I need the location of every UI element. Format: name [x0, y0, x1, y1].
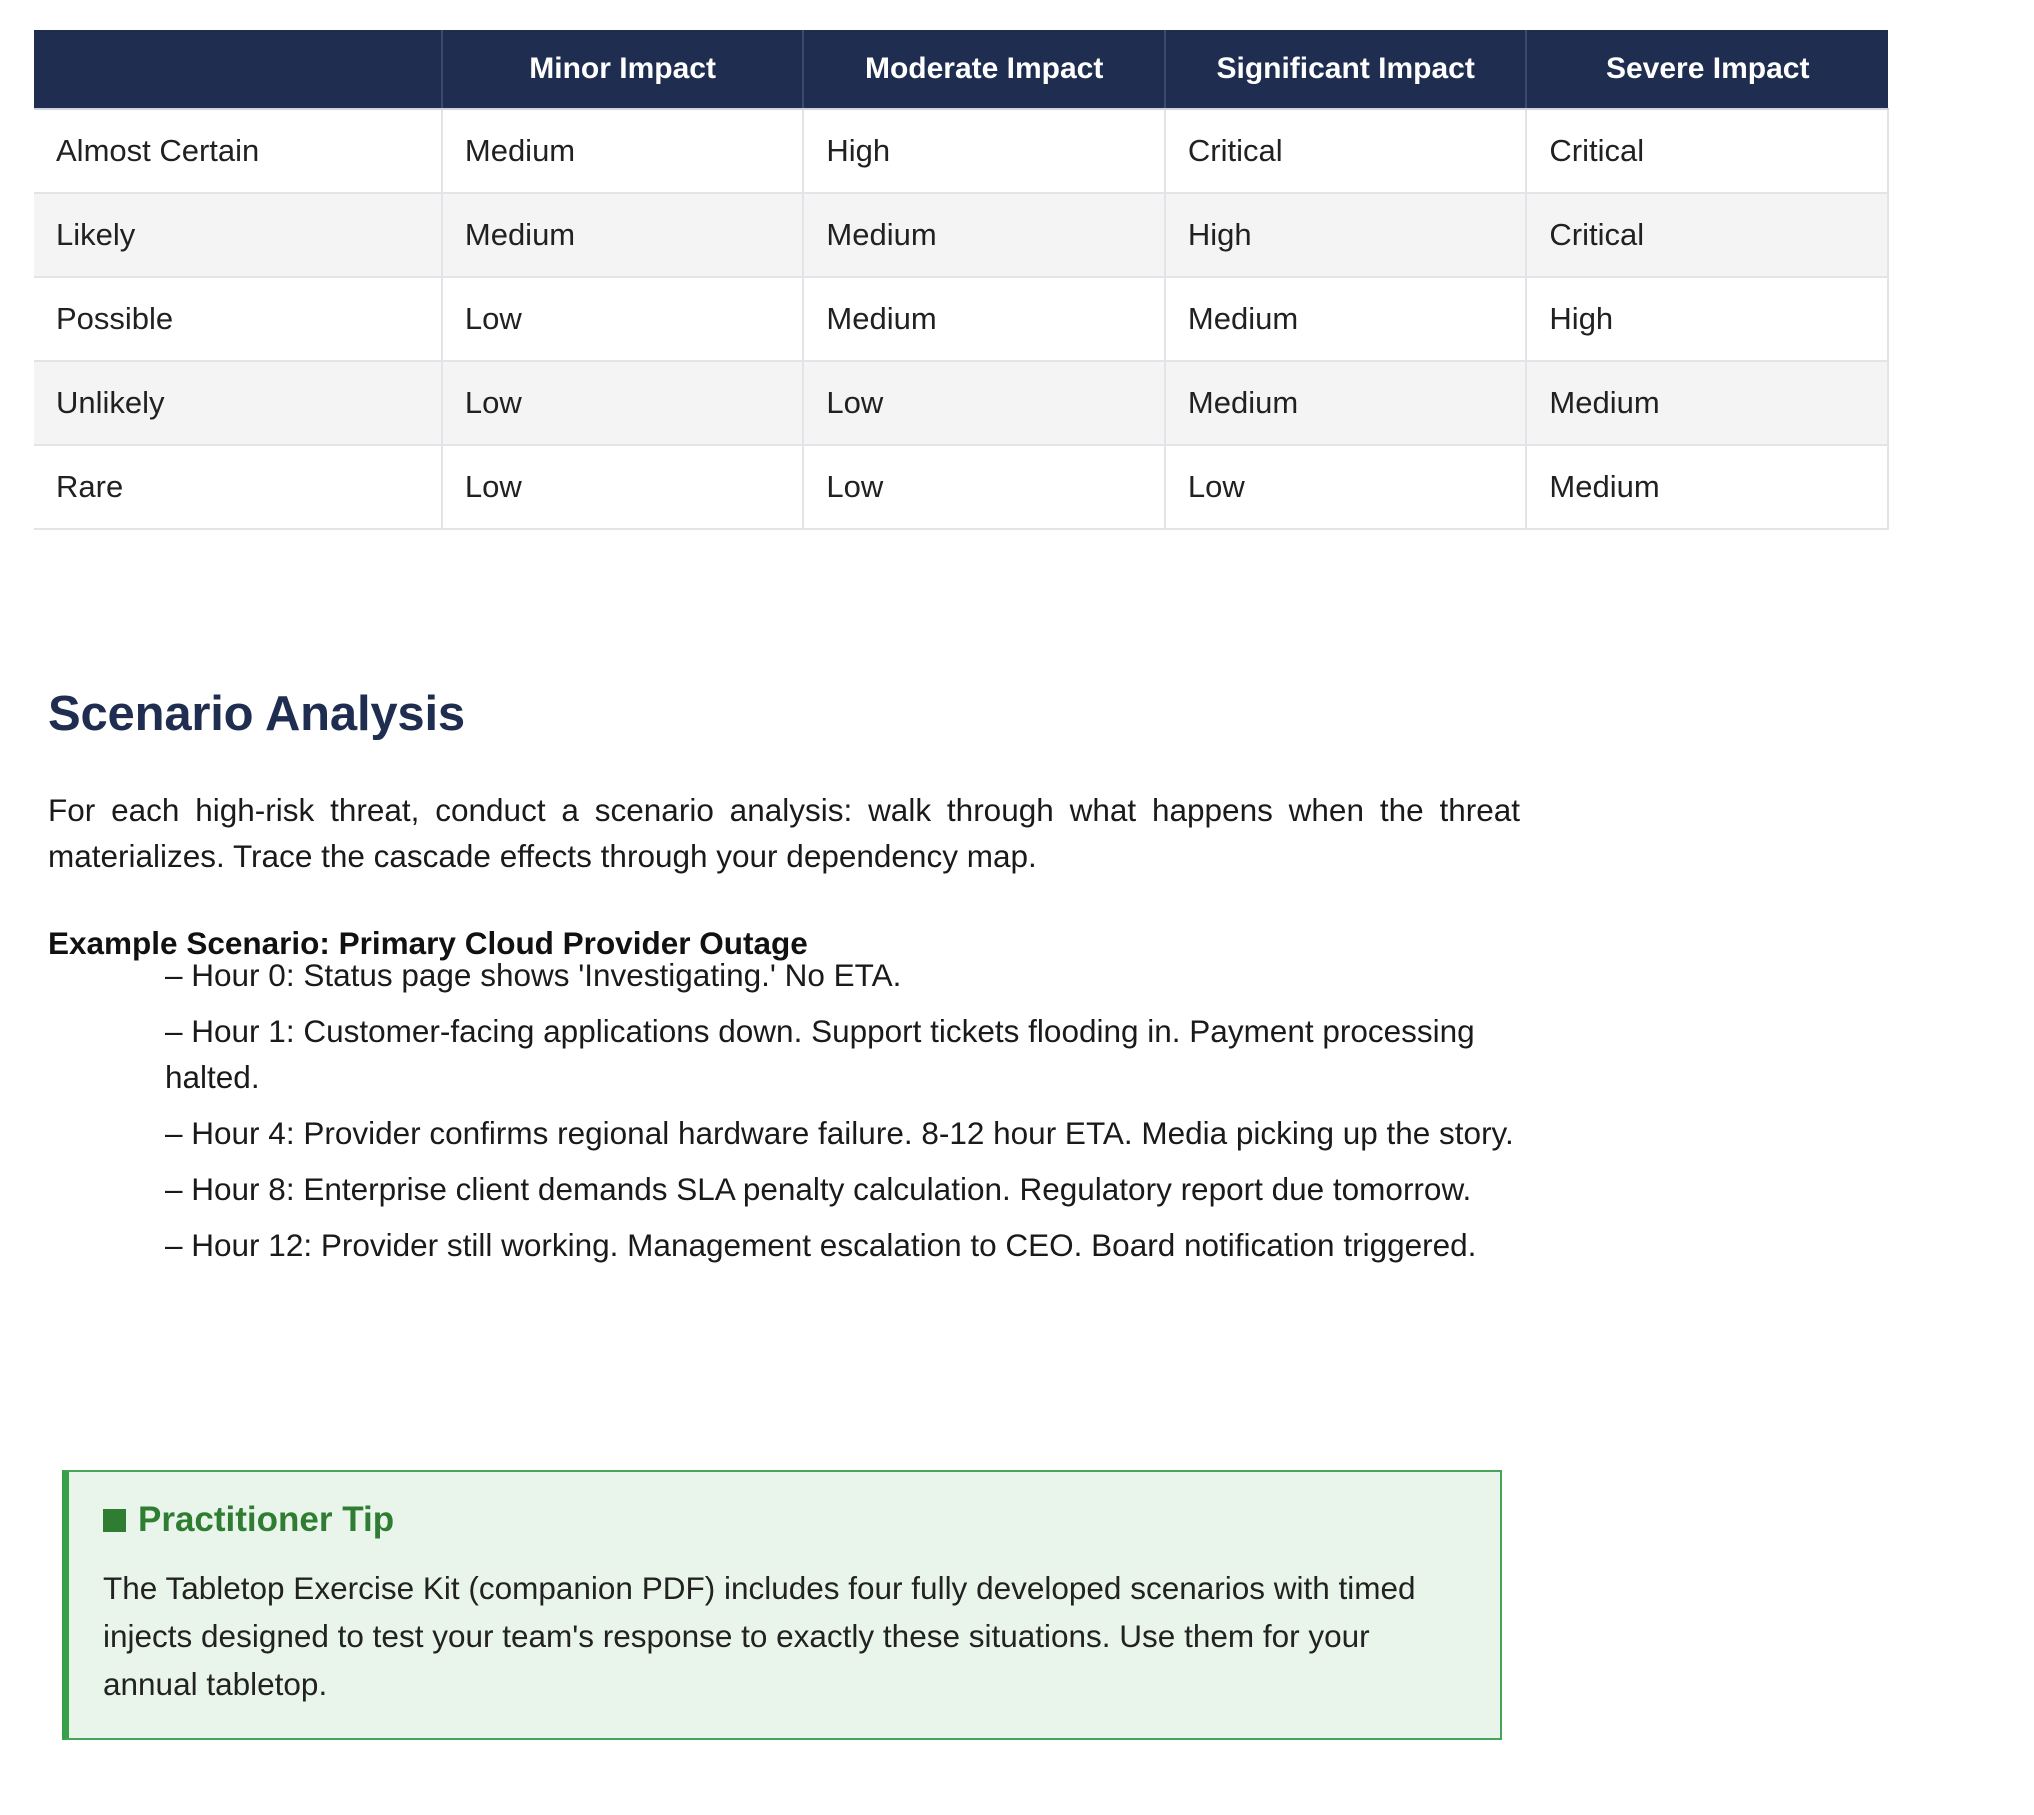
table-header-row: Minor Impact Moderate Impact Significant… [34, 30, 1888, 109]
square-bullet-icon [103, 1509, 126, 1532]
risk-cell: Low [442, 361, 804, 445]
risk-matrix-body: Almost Certain Medium High Critical Crit… [34, 109, 1888, 529]
risk-cell: Medium [442, 109, 804, 193]
row-label: Possible [34, 277, 442, 361]
risk-cell: Medium [1165, 361, 1527, 445]
list-item: – Hour 1: Customer-facing applications d… [165, 1008, 1520, 1100]
row-label: Unlikely [34, 361, 442, 445]
risk-cell: Medium [1526, 445, 1888, 529]
list-item: – Hour 12: Provider still working. Manag… [165, 1222, 1520, 1268]
document-page: Minor Impact Moderate Impact Significant… [0, 0, 2034, 1815]
table-row: Possible Low Medium Medium High [34, 277, 1888, 361]
scenario-timeline-list: – Hour 0: Status page shows 'Investigati… [165, 952, 1520, 1278]
practitioner-tip-title-label: Practitioner Tip [138, 1500, 394, 1540]
risk-cell: Medium [803, 193, 1165, 277]
row-label: Almost Certain [34, 109, 442, 193]
practitioner-tip-title: Practitioner Tip [103, 1500, 1466, 1540]
risk-cell: High [1165, 193, 1527, 277]
risk-cell: Medium [1165, 277, 1527, 361]
table-row: Unlikely Low Low Medium Medium [34, 361, 1888, 445]
column-header-moderate-impact: Moderate Impact [803, 30, 1165, 109]
risk-cell: Low [1165, 445, 1527, 529]
risk-matrix-table: Minor Impact Moderate Impact Significant… [34, 30, 1889, 530]
list-item: – Hour 8: Enterprise client demands SLA … [165, 1166, 1520, 1212]
risk-cell: Medium [803, 277, 1165, 361]
risk-cell: Critical [1526, 193, 1888, 277]
risk-cell: Critical [1165, 109, 1527, 193]
practitioner-tip-body: The Tabletop Exercise Kit (companion PDF… [103, 1564, 1466, 1708]
table-row: Likely Medium Medium High Critical [34, 193, 1888, 277]
column-header-severe-impact: Severe Impact [1526, 30, 1888, 109]
risk-matrix-head: Minor Impact Moderate Impact Significant… [34, 30, 1888, 109]
risk-cell: Low [803, 445, 1165, 529]
row-label: Rare [34, 445, 442, 529]
row-label: Likely [34, 193, 442, 277]
list-item: – Hour 4: Provider confirms regional har… [165, 1110, 1520, 1156]
column-header-minor-impact: Minor Impact [442, 30, 804, 109]
risk-cell: Medium [1526, 361, 1888, 445]
column-header-corner [34, 30, 442, 109]
risk-cell: Low [803, 361, 1165, 445]
page-title: Scenario Analysis [48, 686, 465, 742]
risk-cell: Low [442, 445, 804, 529]
risk-cell: Medium [442, 193, 804, 277]
risk-cell: Low [442, 277, 804, 361]
risk-cell: Critical [1526, 109, 1888, 193]
risk-matrix-container: Minor Impact Moderate Impact Significant… [34, 30, 1889, 530]
section-paragraph: For each high-risk threat, conduct a sce… [48, 787, 1520, 879]
practitioner-tip-callout: Practitioner Tip The Tabletop Exercise K… [62, 1470, 1502, 1740]
risk-cell: High [1526, 277, 1888, 361]
column-header-significant-impact: Significant Impact [1165, 30, 1527, 109]
table-row: Almost Certain Medium High Critical Crit… [34, 109, 1888, 193]
table-row: Rare Low Low Low Medium [34, 445, 1888, 529]
list-item: – Hour 0: Status page shows 'Investigati… [165, 952, 1520, 998]
risk-cell: High [803, 109, 1165, 193]
